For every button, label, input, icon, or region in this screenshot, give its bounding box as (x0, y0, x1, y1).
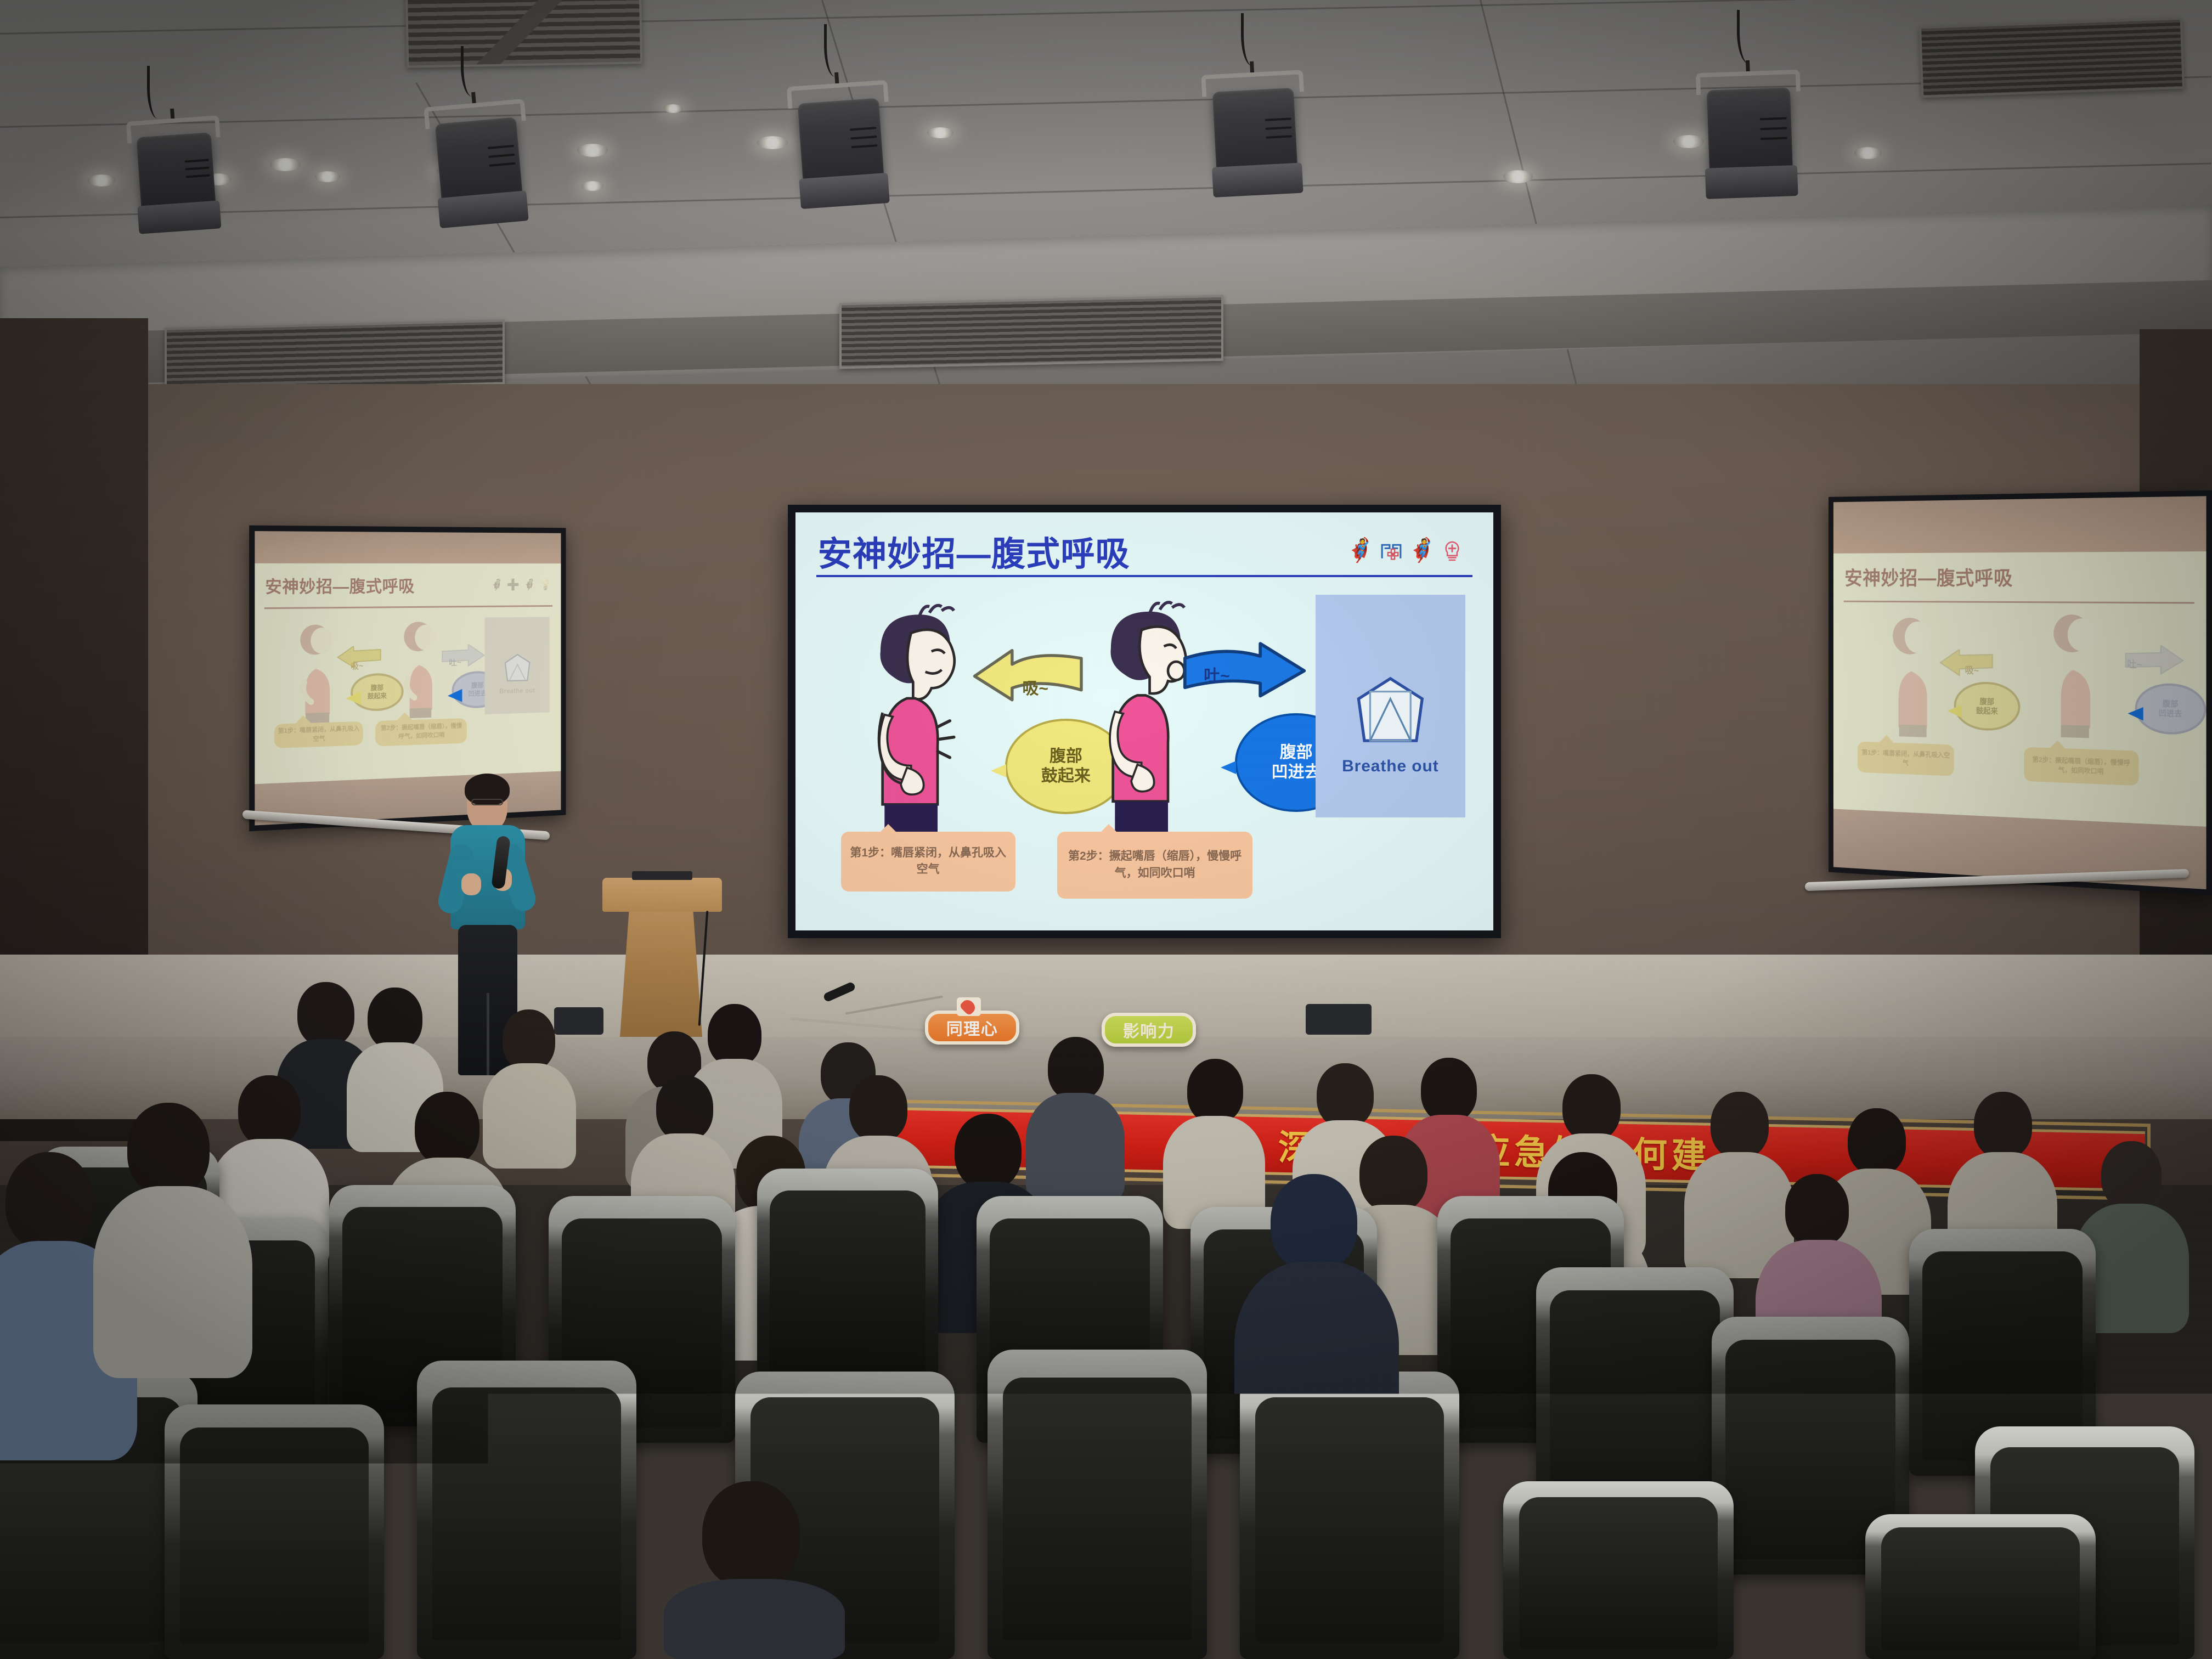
diaphragm-diagram-icon (500, 652, 534, 684)
stage-light (1695, 59, 1804, 202)
audience-person-foreground (1234, 1174, 1399, 1459)
slide-logo-row: 🦸 🦸 (1346, 537, 1471, 564)
superhero-girl-icon: 🦸 (523, 578, 536, 591)
exhale-bubble-line1: 腹部 (1280, 743, 1313, 763)
recessed-downlight (927, 127, 953, 138)
superhero-boy-icon: 🦸 (490, 578, 503, 591)
recessed-downlight (1503, 170, 1533, 183)
auditorium-seat (165, 1404, 384, 1659)
recessed-downlight (270, 158, 301, 171)
exhale-arrow-icon (437, 644, 490, 669)
podium-top (602, 878, 722, 912)
diaphragm-diagram-icon (1353, 674, 1428, 747)
inhale-arrow-icon (332, 646, 385, 670)
podium-laptop (632, 871, 692, 880)
recessed-downlight (577, 144, 608, 157)
exhale-arrow-icon (1183, 641, 1308, 701)
stage-light-cable (1241, 13, 1260, 66)
slide-body: 吸~ 腹部 鼓起来 第1步：嘴唇紧闭，从鼻孔吸入空气 (795, 577, 1493, 930)
hospital-heart-logo-icon (1379, 538, 1404, 563)
inhale-bubble: 腹部 鼓起来 (1954, 681, 2021, 731)
breathe-out-panel: Breathe out (485, 617, 550, 714)
stage-light-cable (461, 46, 479, 97)
exhale-arrow-label: 吐~ (1204, 662, 1230, 686)
presenter-glasses-icon (471, 799, 503, 805)
ceiling-air-vent (1919, 18, 2185, 98)
recessed-downlight (664, 104, 682, 113)
inhale-arrow-label: 吸~ (1022, 675, 1048, 699)
stage-light (422, 88, 535, 232)
right-projection-screen: 安神妙招—腹式呼吸 吸~ 腹部 鼓起来 第1步 (1829, 490, 2212, 895)
presenter-hand-left (461, 873, 481, 895)
inhale-step-box: 第1步：嘴唇紧闭，从鼻孔吸入空气 (841, 832, 1015, 891)
exhale-figure-illustration (2035, 612, 2119, 739)
exhale-bubble: 腹部 凹进去 (2135, 682, 2206, 735)
superhero-girl-icon: 🦸 (1408, 537, 1436, 564)
ceiling-air-vent (165, 319, 505, 392)
recessed-downlight (315, 171, 340, 182)
auditorium-seat (1503, 1481, 1734, 1659)
exhale-step-box: 第2步：撅起嘴唇（缩唇），慢慢呼气，如同吹口哨 (2024, 747, 2138, 786)
auditorium-photo: 安神妙招—腹式呼吸 🦸 ➕ 🦸 💡 吸~ (0, 0, 2212, 1659)
recessed-downlight (757, 136, 788, 149)
auditorium-seat (988, 1350, 1207, 1659)
auditorium-seat (417, 1361, 636, 1659)
exhale-step-box: 第2步：撅起嘴唇（缩唇），慢慢呼气，如同吹口哨 (376, 718, 467, 747)
inhale-arrow-label: 吸~ (1965, 662, 1979, 676)
hospital-heart-logo-icon: ➕ (507, 578, 520, 591)
breathe-out-panel: Breathe out (1316, 595, 1465, 817)
center-projection-screen-housing: 安神妙招—腹式呼吸 🦸 🦸 (788, 505, 1501, 938)
recessed-downlight (1854, 147, 1882, 159)
inhale-step-box: 第1步：嘴唇紧闭，从鼻孔吸入空气 (274, 721, 363, 748)
inhale-figure-illustration (284, 622, 353, 724)
stage-light-cable (824, 24, 843, 77)
breathe-out-label: Breathe out (499, 687, 535, 695)
ceiling-air-vent (839, 295, 1223, 369)
stage-light-cable (1737, 10, 1757, 64)
stage-light (1200, 59, 1310, 201)
breathe-out-label: Breathe out (1342, 757, 1439, 776)
slide-title: 安神妙招—腹式呼吸 (818, 526, 1130, 575)
inhale-bubble-line2: 鼓起来 (1041, 766, 1091, 786)
recessed-downlight (88, 174, 115, 187)
lightbulb-cross-icon (1440, 539, 1464, 563)
inhale-figure-illustration (858, 595, 991, 849)
lightbulb-cross-icon: 💡 (539, 578, 552, 591)
audience-person-foreground (93, 1103, 252, 1377)
center-slide: 安神妙招—腹式呼吸 🦸 🦸 (795, 512, 1493, 930)
exhale-figure-illustration (1088, 588, 1221, 849)
stage-light (125, 105, 227, 238)
inhale-bubble-line1: 腹部 (1049, 747, 1082, 766)
left-screen-title: 安神妙招—腹式呼吸 (265, 573, 414, 598)
auditorium-seat (1865, 1514, 2096, 1659)
inhale-step-box: 第1步：嘴唇紧闭，从鼻孔吸入空气 (1858, 741, 1954, 776)
recessed-downlight (582, 181, 603, 191)
stage-light (786, 69, 896, 213)
stage-speaker (1306, 1004, 1372, 1035)
exhale-figure-illustration (388, 619, 455, 719)
right-screen-title: 安神妙招—腹式呼吸 (1844, 562, 2013, 591)
exhale-step-box: 第2步：撅起嘴唇（缩唇），慢慢呼气，如同吹口哨 (1057, 832, 1252, 899)
audience-person-foreground (664, 1481, 845, 1659)
superhero-boy-icon: 🦸 (1346, 537, 1374, 564)
exhale-bubble-line2: 凹进去 (1272, 763, 1321, 782)
ceiling-air-vent (405, 0, 642, 68)
exhale-arrow-icon (2112, 645, 2198, 678)
